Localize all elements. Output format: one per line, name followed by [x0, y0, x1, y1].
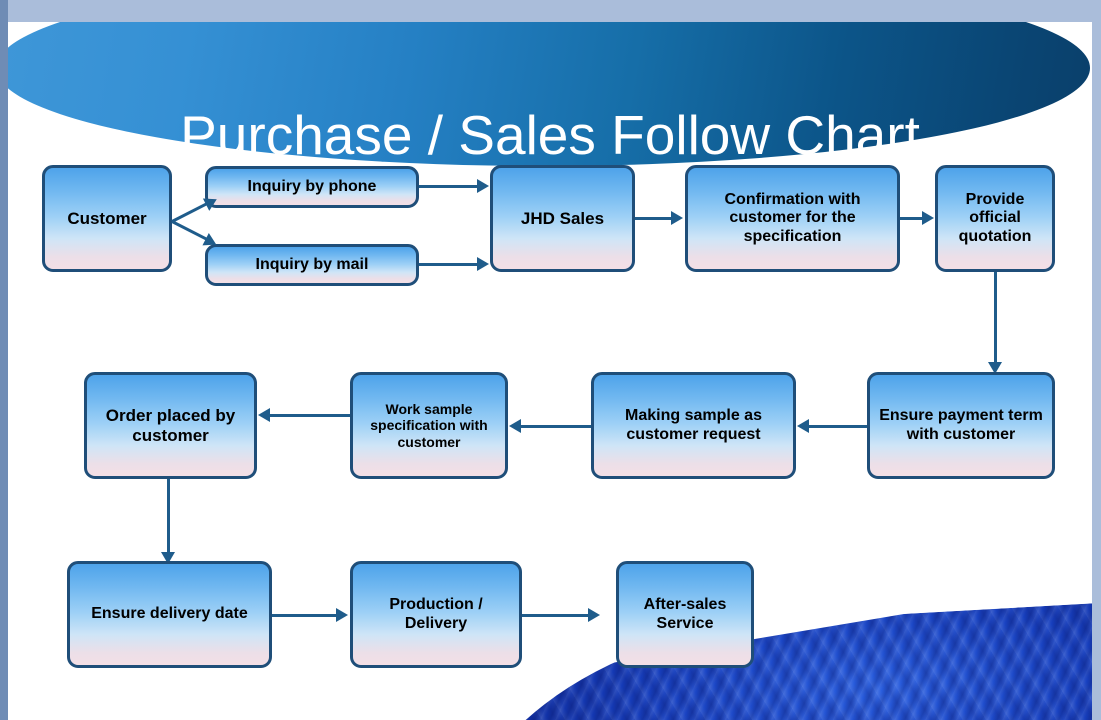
node-ensure-delivery-date[interactable]: Ensure delivery date [67, 561, 272, 668]
node-inquiry-by-mail-label: Inquiry by mail [256, 256, 369, 275]
connector-quotation-to-payment [994, 272, 997, 365]
node-jhd-sales-label: JHD Sales [521, 209, 604, 229]
node-work-sample-specification[interactable]: Work sample specification with customer [350, 372, 508, 479]
node-jhd-sales[interactable]: JHD Sales [490, 165, 635, 272]
slide-frame-left [0, 0, 8, 720]
slide: Purchase / Sales Follow Chart Customer I… [0, 0, 1101, 720]
slide-frame-top [0, 0, 1101, 22]
node-ensure-delivery-date-label: Ensure delivery date [91, 605, 248, 624]
node-work-sample-specification-label: Work sample specification with customer [359, 401, 499, 450]
node-ensure-payment-term-label: Ensure payment term with customer [876, 407, 1046, 444]
node-production-delivery[interactable]: Production / Delivery [350, 561, 522, 668]
node-provide-official-quotation[interactable]: Provide official quotation [935, 165, 1055, 272]
connector-delivery-date-to-production [272, 614, 338, 617]
arrow-head-icon [477, 179, 489, 193]
arrow-head-icon [336, 608, 348, 622]
node-making-sample[interactable]: Making sample as customer request [591, 372, 796, 479]
arrow-head-icon [797, 419, 809, 433]
slide-frame-right [1092, 0, 1101, 720]
arrow-head-icon [509, 419, 521, 433]
connector-confirmation-to-quotation [900, 217, 924, 220]
node-customer[interactable]: Customer [42, 165, 172, 272]
node-making-sample-label: Making sample as customer request [600, 407, 787, 444]
node-confirmation-with-customer[interactable]: Confirmation with customer for the speci… [685, 165, 900, 272]
node-order-placed-by-customer-label: Order placed by customer [93, 406, 248, 445]
node-production-delivery-label: Production / Delivery [359, 596, 513, 633]
connector-phone-to-jhd [419, 185, 479, 188]
slide-canvas: Purchase / Sales Follow Chart Customer I… [8, 22, 1092, 720]
node-customer-label: Customer [67, 209, 146, 229]
connector-work-sample-to-order-placed [269, 414, 350, 417]
page-title: Purchase / Sales Follow Chart [8, 108, 1092, 163]
connector-mail-to-jhd [419, 263, 479, 266]
connector-production-to-after-sales [522, 614, 590, 617]
arrow-head-icon [477, 257, 489, 271]
connector-making-sample-to-work-sample [520, 425, 591, 428]
connector-payment-to-making-sample [808, 425, 867, 428]
arrow-head-icon [922, 211, 934, 225]
arrow-head-icon [588, 608, 600, 622]
connector-customer-to-inquiry-mail [171, 220, 208, 241]
node-inquiry-by-mail[interactable]: Inquiry by mail [205, 244, 419, 286]
node-confirmation-with-customer-label: Confirmation with customer for the speci… [694, 191, 891, 247]
node-ensure-payment-term[interactable]: Ensure payment term with customer [867, 372, 1055, 479]
connector-order-placed-to-delivery-date [167, 479, 170, 555]
node-after-sales-service-label: After-sales Service [625, 596, 745, 633]
connector-jhd-to-confirmation [635, 217, 673, 220]
node-provide-official-quotation-label: Provide official quotation [944, 191, 1046, 247]
node-inquiry-by-phone[interactable]: Inquiry by phone [205, 166, 419, 208]
node-inquiry-by-phone-label: Inquiry by phone [248, 178, 377, 197]
arrow-head-icon [258, 408, 270, 422]
arrow-head-icon [671, 211, 683, 225]
node-after-sales-service[interactable]: After-sales Service [616, 561, 754, 668]
node-order-placed-by-customer[interactable]: Order placed by customer [84, 372, 257, 479]
connector-customer-to-inquiry-phone [171, 202, 208, 223]
